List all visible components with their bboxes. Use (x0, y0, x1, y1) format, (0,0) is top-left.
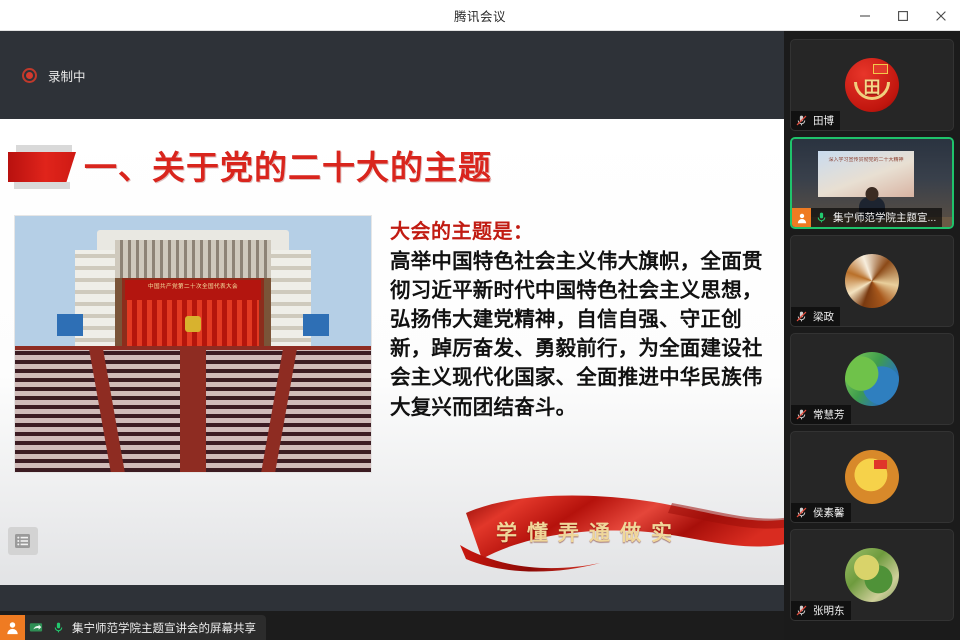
slide-title: 一、关于党的二十大的主题 (84, 151, 492, 184)
shared-screen-region[interactable]: 录制中 一、关于党的二十大的主题 (0, 31, 784, 611)
participant-footer: 集宁师范学院主题宣... (792, 208, 942, 227)
close-icon (935, 10, 947, 22)
video-screen-caption: 深入学习宣传贯彻党的二十大精神 (822, 157, 910, 165)
emblem-avatar: 田 (845, 58, 899, 112)
maximize-button[interactable] (884, 0, 922, 31)
participant-name: 集宁师范学院主题宣... (831, 210, 936, 225)
red-ribbon-decoration: 学懂弄通做实 (460, 483, 784, 579)
outline-list-icon (15, 534, 32, 549)
food-green-avatar (845, 548, 899, 602)
recording-indicator-icon (22, 68, 37, 83)
screen-share-label: 集宁师范学院主题宣讲会的屏幕共享 (69, 620, 256, 636)
red-banner-decoration-icon (8, 143, 80, 191)
window-title: 腾讯会议 (454, 6, 506, 25)
recording-dot (26, 72, 33, 79)
ribbon-text: 学懂弄通做实 (496, 517, 682, 547)
minimize-icon (859, 10, 871, 22)
recording-label: 录制中 (48, 66, 86, 85)
earth-green-avatar (845, 352, 899, 406)
participant-tile[interactable]: 侯素馨 (790, 431, 954, 523)
participant-tile[interactable]: 常慧芳 (790, 333, 954, 425)
slide-outline-button[interactable] (8, 527, 38, 555)
mic-muted-icon (791, 604, 811, 617)
theme-body-text: 高举中国特色社会主义伟大旗帜，全面贯彻习近平新时代中国特色社会主义思想，弘扬伟大… (390, 247, 774, 422)
recording-bar: 录制中 (0, 31, 784, 119)
screen-share-icon (25, 621, 47, 635)
participant-footer: 张明东 (791, 601, 851, 620)
participant-tile[interactable]: 梁政 (790, 235, 954, 327)
participant-tile-active-speaker[interactable]: 深入学习宣传贯彻党的二十大精神 (790, 137, 954, 229)
theme-lead-text: 大会的主题是： (390, 215, 774, 244)
participant-footer: 常慧芳 (791, 405, 851, 424)
slide-body: 中国共产党第二十次全国代表大会 大会的主题是： 高举中国特色社会主义伟大旗帜，全… (0, 215, 784, 473)
slide-text-column: 大会的主题是： 高举中国特色社会主义伟大旗帜，全面贯彻习近平新时代中国特色社会主… (372, 215, 784, 473)
gold-radial-avatar (845, 254, 899, 308)
participant-footer: 田博 (791, 111, 840, 130)
participant-name: 侯素馨 (811, 505, 845, 520)
mic-muted-icon (791, 114, 811, 127)
mic-muted-icon (791, 408, 811, 421)
participant-footer: 侯素馨 (791, 503, 851, 522)
mic-muted-icon (791, 310, 811, 323)
participant-rail[interactable]: 田 田博 深入学习宣传贯彻党的二十大精神 (784, 31, 960, 640)
participant-tile[interactable]: 田 田博 (790, 39, 954, 131)
user-avatar-icon (0, 615, 25, 640)
mic-muted-icon (791, 506, 811, 519)
meeting-stage: 录制中 一、关于党的二十大的主题 (0, 31, 960, 640)
microphone-icon (47, 621, 69, 634)
presentation-slide: 一、关于党的二十大的主题 (0, 119, 784, 585)
screen-share-status-bar[interactable]: 集宁师范学院主题宣讲会的屏幕共享 (0, 615, 266, 640)
mic-unmuted-icon (811, 211, 831, 224)
participant-name: 梁政 (811, 309, 834, 324)
slide-header: 一、关于党的二十大的主题 (0, 139, 784, 195)
minimize-button[interactable] (846, 0, 884, 31)
slide-photo-column: 中国共产党第二十次全国代表大会 (0, 215, 372, 473)
photo-banner-caption: 中国共产党第二十次全国代表大会 (125, 282, 261, 290)
close-button[interactable] (922, 0, 960, 31)
participant-name: 常慧芳 (811, 407, 845, 422)
participant-footer: 梁政 (791, 307, 840, 326)
maximize-icon (897, 10, 909, 22)
participant-tile[interactable]: 张明东 (790, 529, 954, 621)
food-golden-avatar (845, 450, 899, 504)
congress-hall-photo: 中国共产党第二十次全国代表大会 (14, 215, 372, 473)
participant-name: 田博 (811, 113, 834, 128)
participant-name: 张明东 (811, 603, 845, 618)
window-controls (846, 0, 960, 31)
user-avatar-icon (792, 208, 811, 227)
window-titlebar: 腾讯会议 (0, 0, 960, 31)
ribbon-icon (460, 483, 784, 579)
